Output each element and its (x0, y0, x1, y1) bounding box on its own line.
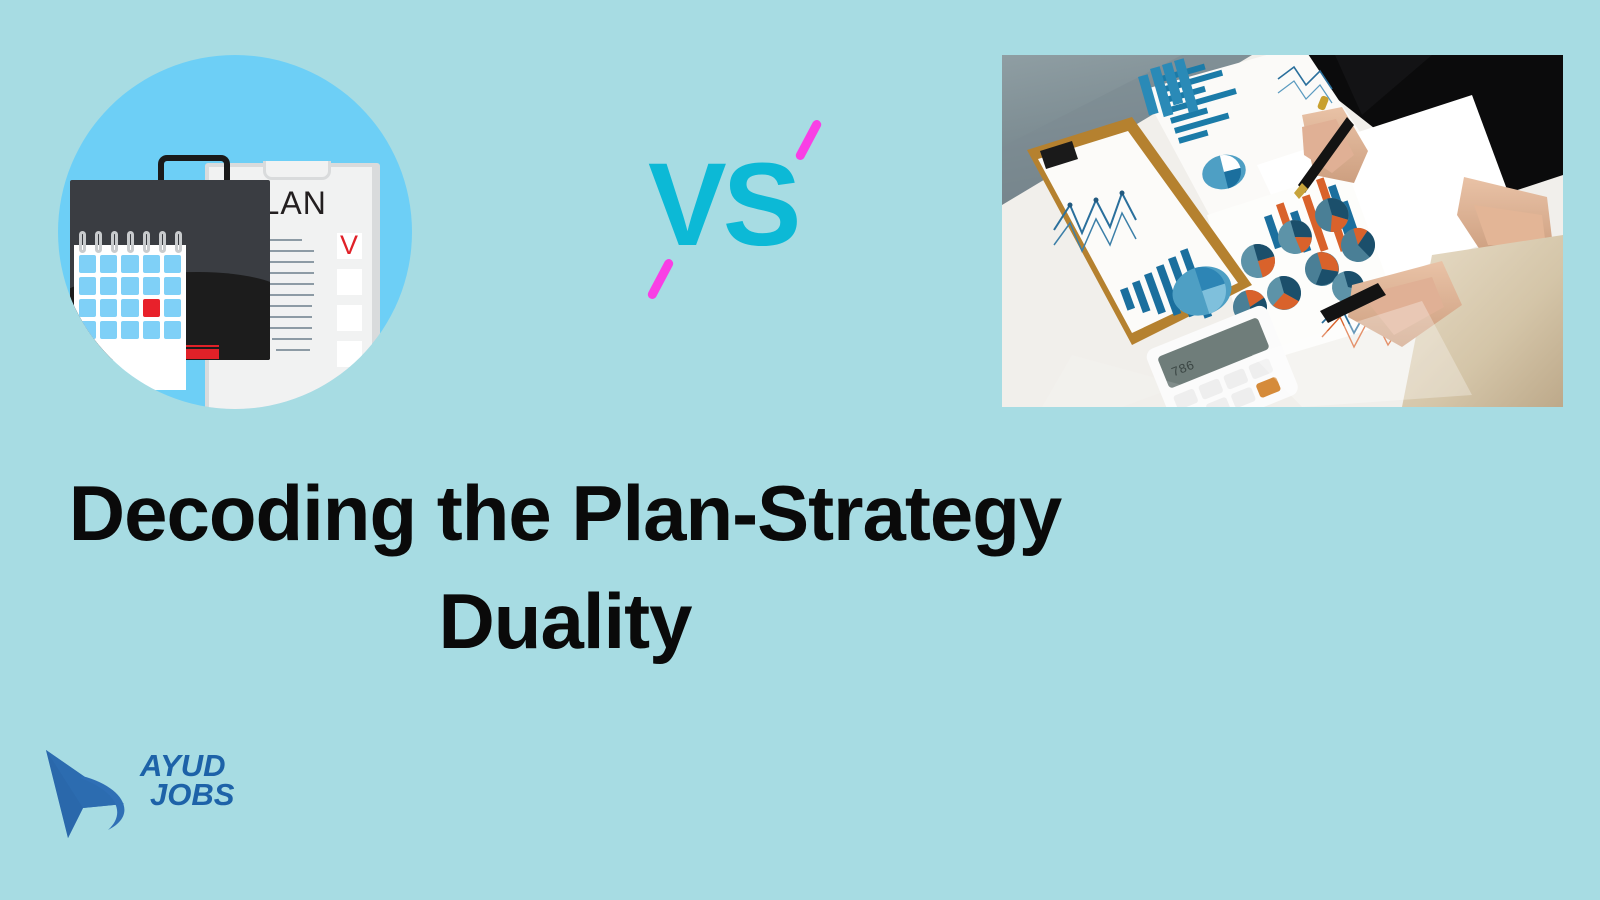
page-title: Decoding the Plan-Strategy Duality (30, 460, 1100, 675)
calendar-grid (79, 255, 181, 339)
checkbox-item (337, 269, 362, 295)
calendar-spiral-rings-icon (74, 231, 186, 251)
checkbox-list: V (337, 233, 362, 377)
calendar-highlighted-day (143, 299, 160, 317)
slide-canvas: PLAN (0, 0, 1600, 900)
checkbox-item-checked: V (337, 233, 362, 259)
plan-illustration: PLAN (58, 55, 412, 409)
checkbox-item (337, 305, 362, 331)
vs-label: VS (648, 146, 797, 264)
checkbox-item (337, 341, 362, 367)
cursor-arrow-icon (36, 742, 146, 842)
illustration-stage: PLAN (58, 55, 412, 409)
page-title-line-1: Decoding the Plan-Strategy (30, 460, 1100, 568)
brand-logo-wordmark: AYUD JOBS (140, 752, 234, 809)
accent-slash-top-right-icon (794, 118, 823, 161)
checkmark-icon: V (340, 230, 358, 261)
brand-logo-line-2: JOBS (150, 781, 234, 810)
vs-badge: VS (636, 118, 836, 308)
clipboard-clip-icon (263, 161, 331, 180)
calendar (74, 245, 186, 390)
page-title-line-2: Duality (30, 568, 1100, 676)
business-analytics-photo: 786 (1002, 55, 1563, 407)
brand-logo[interactable]: AYUD JOBS (36, 742, 266, 842)
